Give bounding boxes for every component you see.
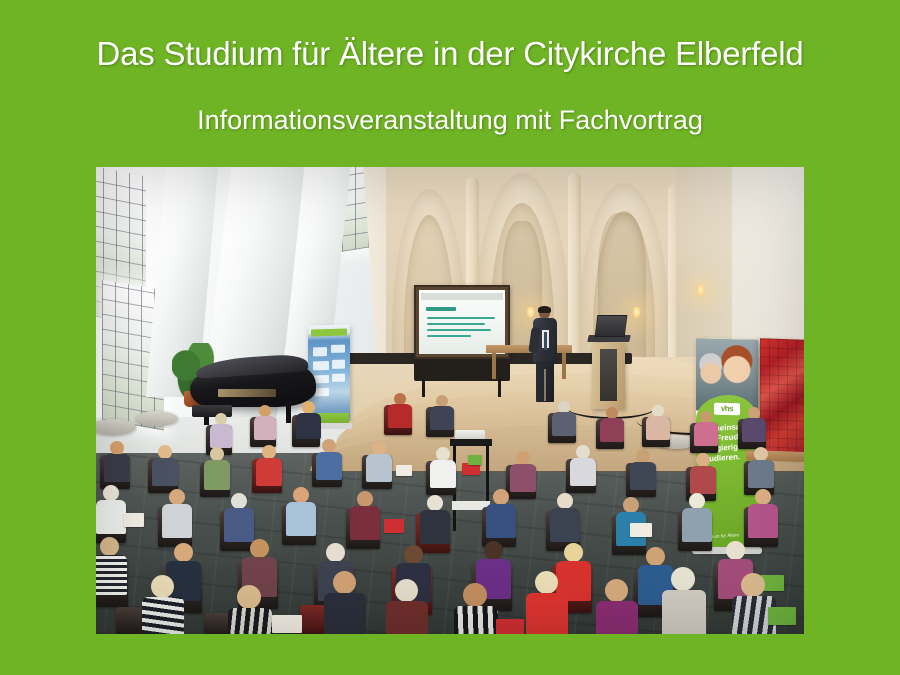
- speaker-figure: [532, 307, 558, 402]
- page-subtitle: Informationsveranstaltung mit Fachvortra…: [0, 103, 900, 137]
- slide-header-bar: [421, 293, 503, 300]
- event-photo: vhs Gemeinsam mit Freude neugierig studi…: [96, 167, 804, 634]
- wall-sconce-icon: [632, 307, 641, 319]
- speaker-hair: [538, 306, 551, 313]
- page-title: Das Studium für Ältere in der Citykirche…: [0, 33, 900, 75]
- slide-heading: [426, 307, 456, 311]
- red-quilt-artwork: [760, 338, 804, 458]
- poster-canvas: Das Studium für Ältere in der Citykirche…: [0, 0, 900, 675]
- piano-brand-plate: [218, 389, 276, 397]
- vhs-logo: vhs: [714, 403, 740, 416]
- wall-sconce-icon: [696, 285, 705, 297]
- round-table: [136, 411, 178, 426]
- laptop-screen: [595, 315, 628, 337]
